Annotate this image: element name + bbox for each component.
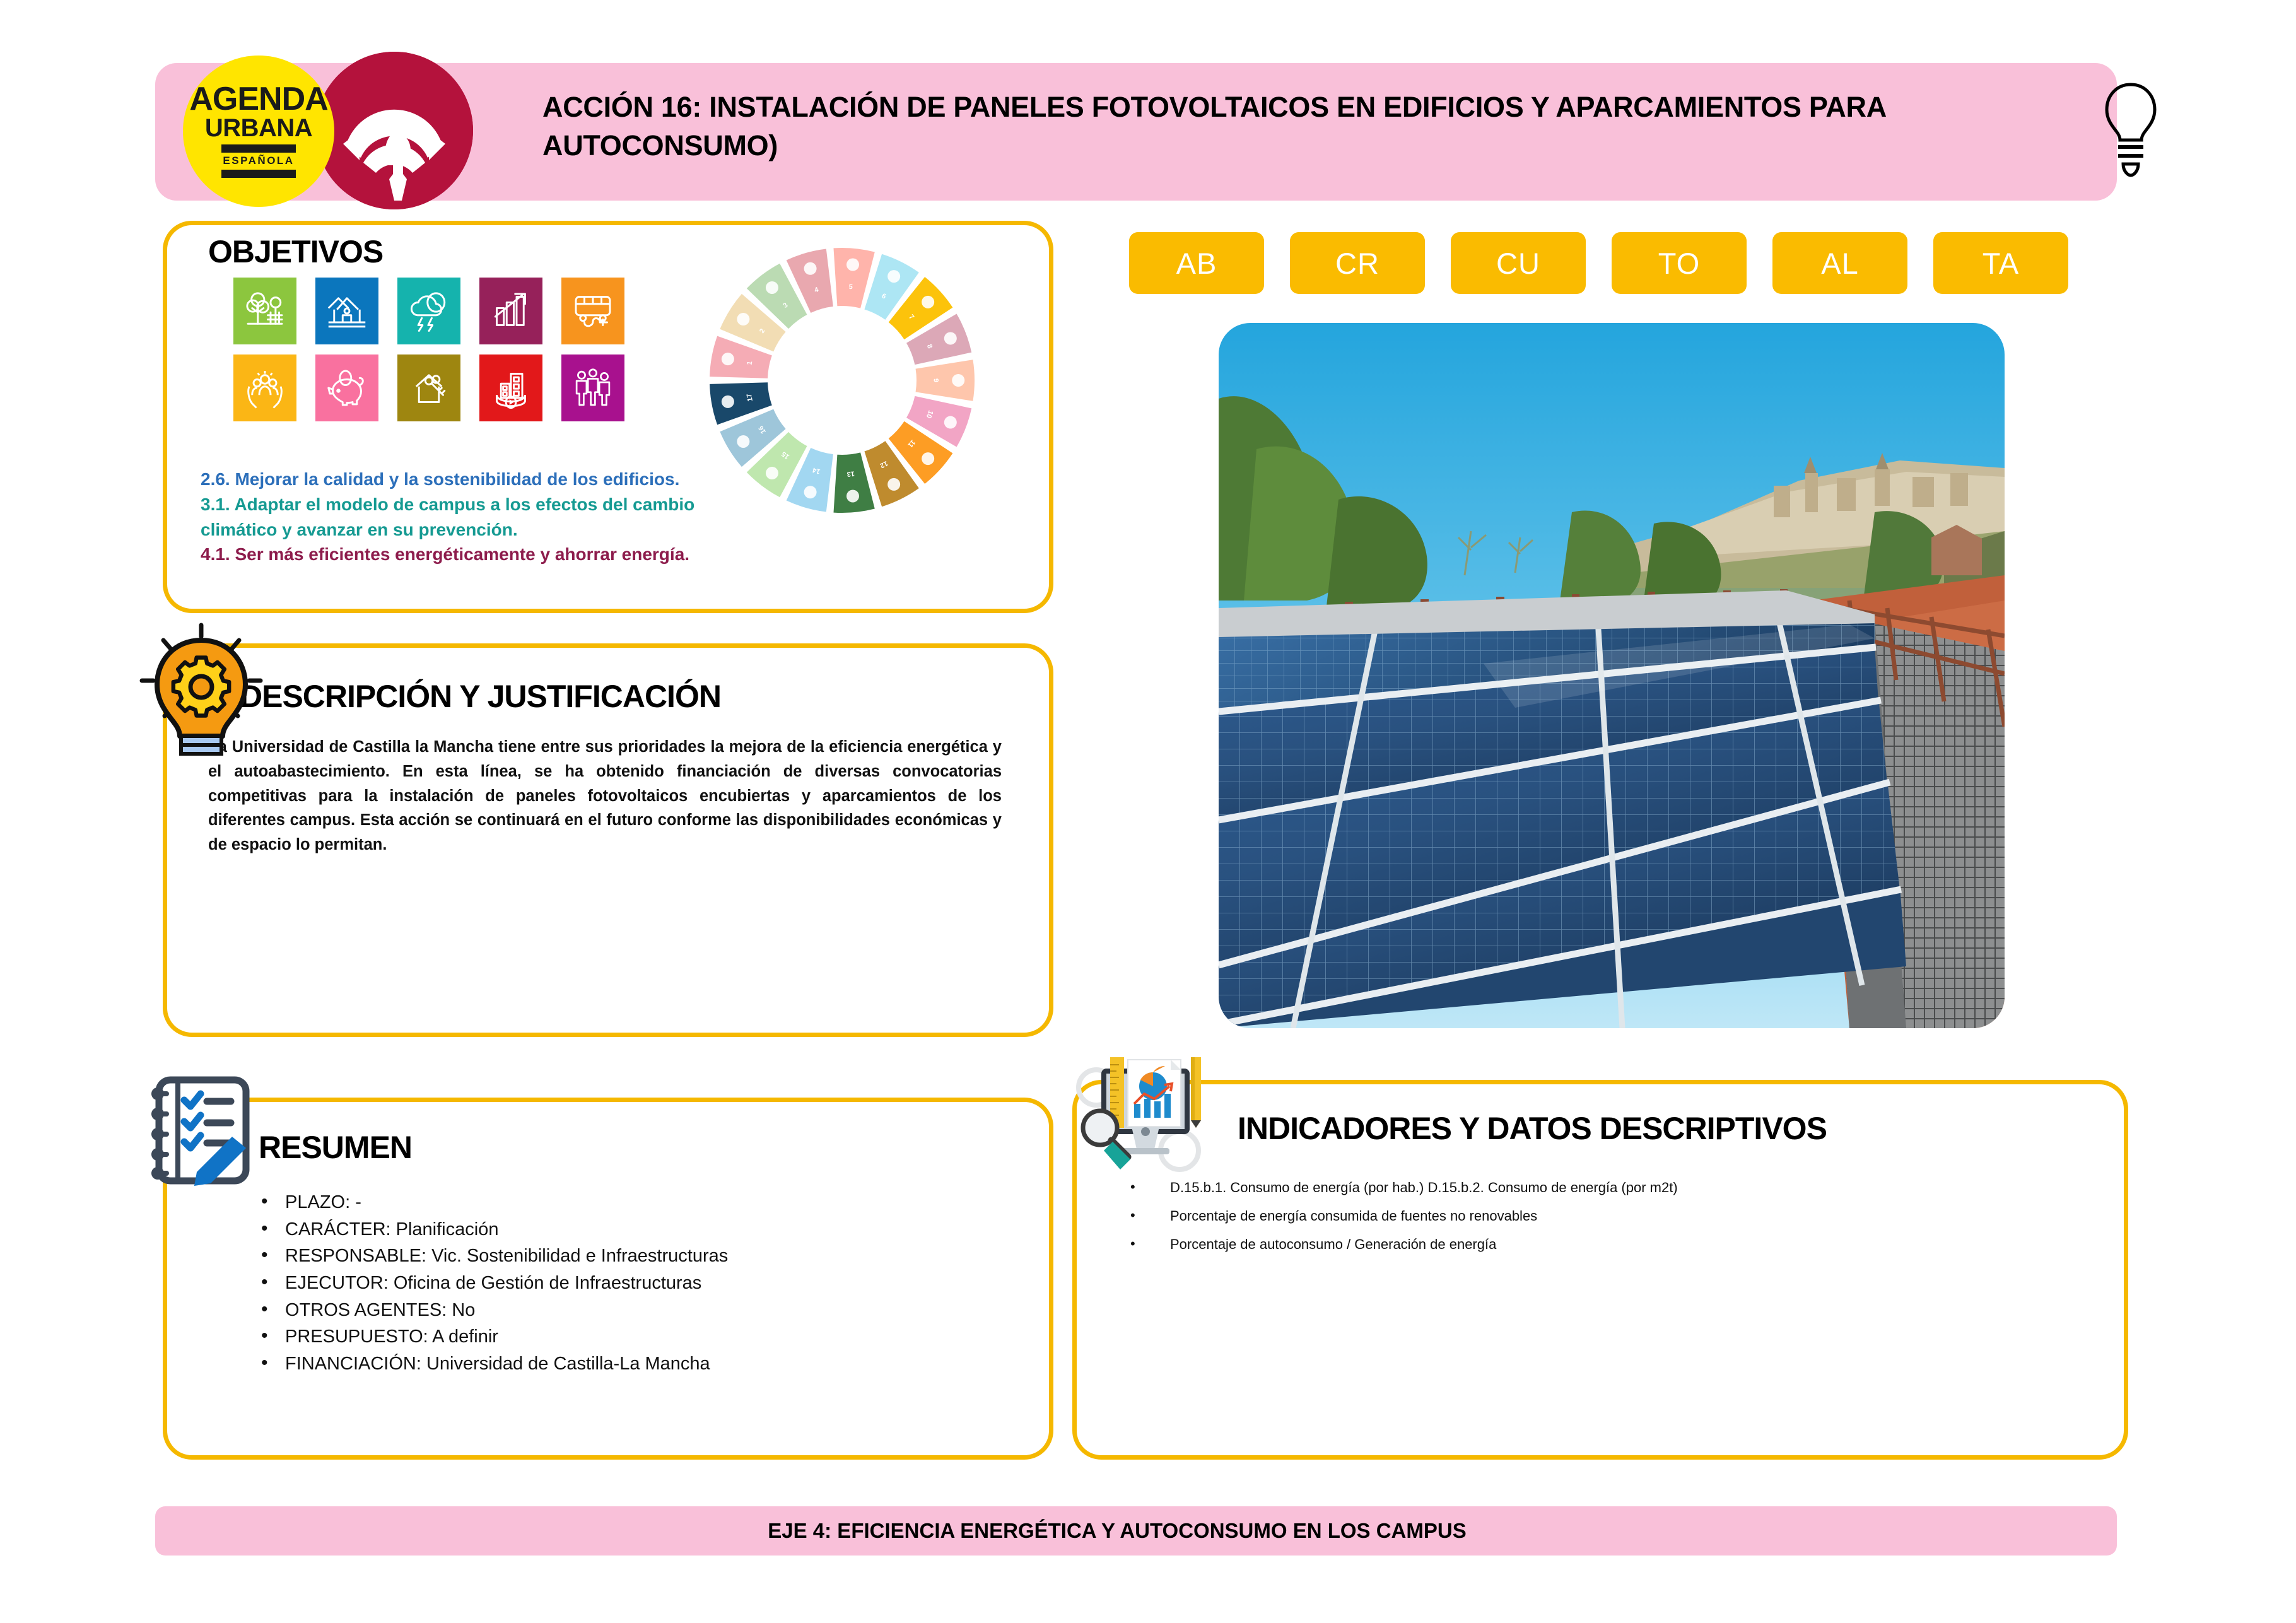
sdg-segment-9 [916, 360, 975, 401]
indicadores-item-list: D.15.b.1. Consumo de energía (por hab.) … [1123, 1173, 2069, 1258]
campus-badge-cr[interactable]: CR [1290, 232, 1425, 294]
objetivo-icon-tree-park [233, 278, 296, 344]
sdg-glyph-5 [846, 259, 859, 271]
indicador-item-2: Porcentaje de energía consumida de fuent… [1123, 1202, 2069, 1230]
indicador-item-3: Porcentaje de autoconsumo / Generación d… [1123, 1230, 2069, 1258]
campus-badge-row: AB CR CU TO AL TA [1129, 232, 2068, 294]
lightbulb-gear-icon [129, 615, 273, 759]
logo-line-3: ESPAÑOLA [223, 155, 294, 167]
resumen-item-plazo: PLAZO: - [252, 1189, 1009, 1216]
sdg-glyph-13 [846, 489, 859, 502]
sdg-glyph-10 [944, 416, 957, 429]
solar-panels-illustration [1219, 323, 2005, 1028]
rocket-signal-icon [315, 52, 473, 209]
sdg-glyph-11 [922, 452, 934, 465]
objetivo-icon-people-group [561, 354, 624, 421]
ods-rocket-logo [315, 52, 473, 209]
objetivo-line-1: 2.6. Mejorar la calidad y la sostenibili… [201, 467, 756, 492]
sdg-glyph-9 [952, 374, 964, 387]
sdg-glyph-15 [766, 467, 778, 479]
sdg-glyph-3 [766, 281, 778, 294]
resumen-item-financiacion: FINANCIACIÓN: Universidad de Castilla-La… [252, 1351, 1009, 1378]
objetivo-line-3: 4.1. Ser más eficientes energéticamente … [201, 542, 756, 567]
sdg-glyph-7 [922, 296, 934, 308]
page-title: ACCIÓN 16: INSTALACIÓN DE PANELES FOTOVO… [542, 88, 2069, 165]
resumen-item-list: PLAZO: - CARÁCTER: Planificación RESPONS… [252, 1189, 1009, 1377]
objetivos-heading: OBJETIVOS [208, 233, 383, 270]
notebook-checklist-icon [146, 1072, 263, 1189]
resumen-item-responsable: RESPONSABLE: Vic. Sostenibilidad e Infra… [252, 1243, 1009, 1270]
objetivos-text-list: 2.6. Mejorar la calidad y la sostenibili… [201, 467, 756, 567]
campus-badge-ta[interactable]: TA [1933, 232, 2068, 294]
sdg-glyph-12 [887, 478, 900, 491]
sdg-number-17: 17 [746, 393, 754, 402]
resumen-item-caracter: CARÁCTER: Planificación [252, 1216, 1009, 1243]
objetivo-icon-electric-bus [561, 278, 624, 344]
sdg-glyph-6 [887, 270, 900, 283]
sdg-number-13: 13 [846, 469, 855, 478]
lightbulb-outline-icon [2100, 81, 2161, 182]
sdg-glyph-16 [737, 435, 749, 448]
campus-badge-ab[interactable]: AB [1129, 232, 1264, 294]
campus-badge-to[interactable]: TO [1612, 232, 1747, 294]
resumen-heading: RESUMEN [259, 1129, 412, 1166]
resumen-item-otros-agentes: OTROS AGENTES: No [252, 1297, 1009, 1324]
agenda-urbana-logo: AGENDA URBANA ESPAÑOLA [183, 56, 334, 207]
sdg-glyph-1 [722, 353, 734, 365]
indicador-item-1: D.15.b.1. Consumo de energía (por hab.) … [1123, 1173, 2069, 1202]
monitor-charts-icon [1074, 1055, 1214, 1182]
objetivo-icon-piggy-bank [315, 354, 378, 421]
sdg-wheel-icon: 1234567891011121314151617 [706, 245, 978, 516]
objetivo-line-2: 3.1. Adaptar el modelo de campus a los e… [201, 492, 756, 542]
resumen-item-presupuesto: PRESUPUESTO: A definir [252, 1323, 1009, 1351]
campus-badge-al[interactable]: AL [1772, 232, 1907, 294]
objetivos-icon-grid [233, 278, 637, 424]
logo-line-2: URBANA [205, 115, 312, 141]
descripcion-body-text: La Universidad de Castilla la Mancha tie… [208, 735, 1002, 857]
campus-badge-cu[interactable]: CU [1451, 232, 1586, 294]
logo-line-1: AGENDA [189, 85, 327, 114]
sdg-glyph-14 [804, 486, 817, 498]
descripcion-heading: DESCRIPCIÓN Y JUSTIFICACIÓN [240, 678, 721, 715]
objetivo-icon-hands-people [233, 354, 296, 421]
objetivo-icon-storm-cloud [397, 278, 460, 344]
footer-label: EJE 4: EFICIENCIA ENERGÉTICA Y AUTOCONSU… [155, 1506, 2117, 1556]
objetivo-icon-growth-chart [479, 278, 542, 344]
sdg-glyph-4 [804, 262, 817, 275]
objetivo-icon-house-keys [397, 354, 460, 421]
objetivo-icon-house-building [315, 278, 378, 344]
logo-rule-bottom [221, 170, 296, 178]
sdg-number-5: 5 [848, 283, 853, 291]
sdg-number-9: 9 [932, 378, 940, 382]
resumen-item-ejecutor: EJECUTOR: Oficina de Gestión de Infraest… [252, 1270, 1009, 1297]
sdg-glyph-8 [944, 332, 957, 344]
sdg-glyph-17 [722, 395, 734, 408]
objetivo-icon-city-buildings [479, 354, 542, 421]
sdg-glyph-2 [737, 313, 749, 325]
logo-rule-top [221, 144, 296, 153]
solar-panels-photo [1219, 323, 2005, 1028]
indicadores-heading: INDICADORES Y DATOS DESCRIPTIVOS [1238, 1110, 1827, 1147]
